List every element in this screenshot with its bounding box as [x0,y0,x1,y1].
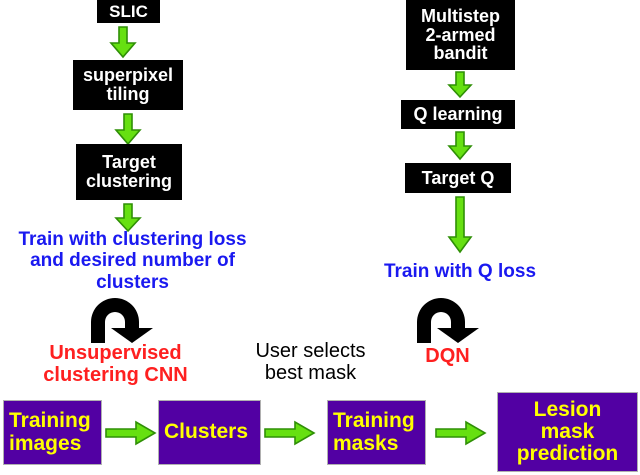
label-train-q-loss: Train with Q loss [355,261,565,282]
node-multistep-bandit-label: Multistep 2-armed bandit [421,7,500,64]
node-training-masks-label: Training masks [333,410,415,454]
arrow-target-q-to-q-loss [446,196,474,254]
node-multistep-bandit: Multistep 2-armed bandit [406,0,515,70]
arrow-right-icon [105,420,157,446]
label-user-selects-best-mask: User selects best mask [228,340,393,385]
arrow-right-icon [435,420,487,446]
arrow-down-icon [113,113,143,146]
node-q-learning: Q learning [401,100,515,129]
node-clusters-label: Clusters [164,421,248,443]
arrow-training-masks-to-prediction [435,420,487,446]
node-target-clustering-label: Target clustering [86,153,172,191]
node-target-clustering: Target clustering [76,144,182,200]
arrow-slic-to-superpixel [108,26,138,59]
arrow-training-images-to-clusters [105,420,157,446]
loop-arrow-icon [85,298,157,344]
node-training-masks: Training masks [327,400,426,465]
arrow-bandit-to-q-learning [446,71,474,99]
node-training-images-label: Training images [9,410,91,454]
node-slic: SLIC [97,0,160,23]
node-lesion-mask-prediction-label: Lesion mask prediction [517,399,619,465]
node-q-learning-label: Q learning [413,105,502,124]
label-dqn: DQN [395,345,500,367]
arrow-superpixel-to-target-clustering [113,113,143,146]
arrow-down-icon [446,71,474,99]
arrow-right-icon [264,420,316,446]
node-target-q-label: Target Q [422,169,495,188]
node-clusters: Clusters [158,400,261,465]
arrow-q-learning-to-target-q [446,131,474,161]
flowchart-diagram: SLIC superpixel tiling Target clustering… [0,0,640,475]
node-training-images: Training images [3,400,102,465]
loop-arrow-right [411,298,483,344]
node-slic-label: SLIC [109,3,148,21]
label-train-clustering-loss: Train with clustering loss and desired n… [0,229,265,293]
arrow-clusters-to-training-masks [264,420,316,446]
arrow-down-icon [446,196,474,254]
label-unsupervised-clustering-cnn: Unsupervised clustering CNN [8,342,223,387]
arrow-down-icon [446,131,474,161]
node-target-q: Target Q [405,163,511,193]
arrow-down-icon [108,26,138,59]
loop-arrow-left [85,298,157,344]
node-lesion-mask-prediction: Lesion mask prediction [497,392,638,472]
node-superpixel-tiling-label: superpixel tiling [83,66,173,104]
loop-arrow-icon [411,298,483,344]
node-superpixel-tiling: superpixel tiling [73,60,183,110]
